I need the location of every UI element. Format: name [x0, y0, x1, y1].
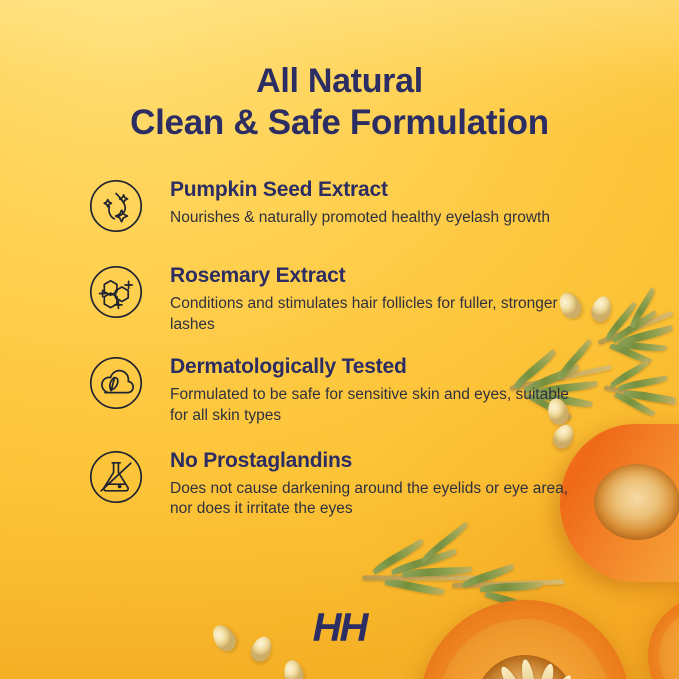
- feature-text: No Prostaglandins Does not cause darkeni…: [170, 447, 608, 520]
- title-line-1: All Natural: [0, 61, 679, 102]
- title-line-2: Clean & Safe Formulation: [0, 102, 679, 145]
- feature-text: Rosemary Extract Conditions and stimulat…: [170, 262, 608, 335]
- feature-description: Conditions and stimulates hair follicles…: [170, 294, 590, 335]
- feature-description: Nourishes & naturally promoted healthy e…: [170, 208, 590, 229]
- page-title: All Natural Clean & Safe Formulation: [0, 61, 679, 145]
- feature-text: Pumpkin Seed Extract Nourishes & natural…: [170, 176, 608, 229]
- feature-item: Dermatologically Tested Formulated to be…: [88, 353, 608, 426]
- cloud-leaf-icon: [88, 355, 144, 411]
- brand-logo: HH: [0, 606, 679, 651]
- no-flask-icon: [88, 449, 144, 505]
- feature-text: Dermatologically Tested Formulated to be…: [170, 353, 608, 426]
- feature-list: Pumpkin Seed Extract Nourishes & natural…: [88, 176, 608, 546]
- feature-item: Pumpkin Seed Extract Nourishes & natural…: [88, 176, 608, 234]
- droplet-sparkle-icon: [88, 178, 144, 234]
- feature-title: No Prostaglandins: [170, 449, 608, 472]
- feature-title: Dermatologically Tested: [170, 355, 608, 378]
- honeycomb-molecule-icon: [88, 264, 144, 320]
- feature-description: Does not cause darkening around the eyel…: [170, 479, 590, 520]
- feature-item: Rosemary Extract Conditions and stimulat…: [88, 262, 608, 335]
- feature-description: Formulated to be safe for sensitive skin…: [170, 385, 590, 426]
- product-infographic: All Natural Clean & Safe Formulation Pum…: [0, 0, 679, 679]
- feature-item: No Prostaglandins Does not cause darkeni…: [88, 447, 608, 520]
- feature-title: Rosemary Extract: [170, 264, 608, 287]
- feature-title: Pumpkin Seed Extract: [170, 178, 608, 201]
